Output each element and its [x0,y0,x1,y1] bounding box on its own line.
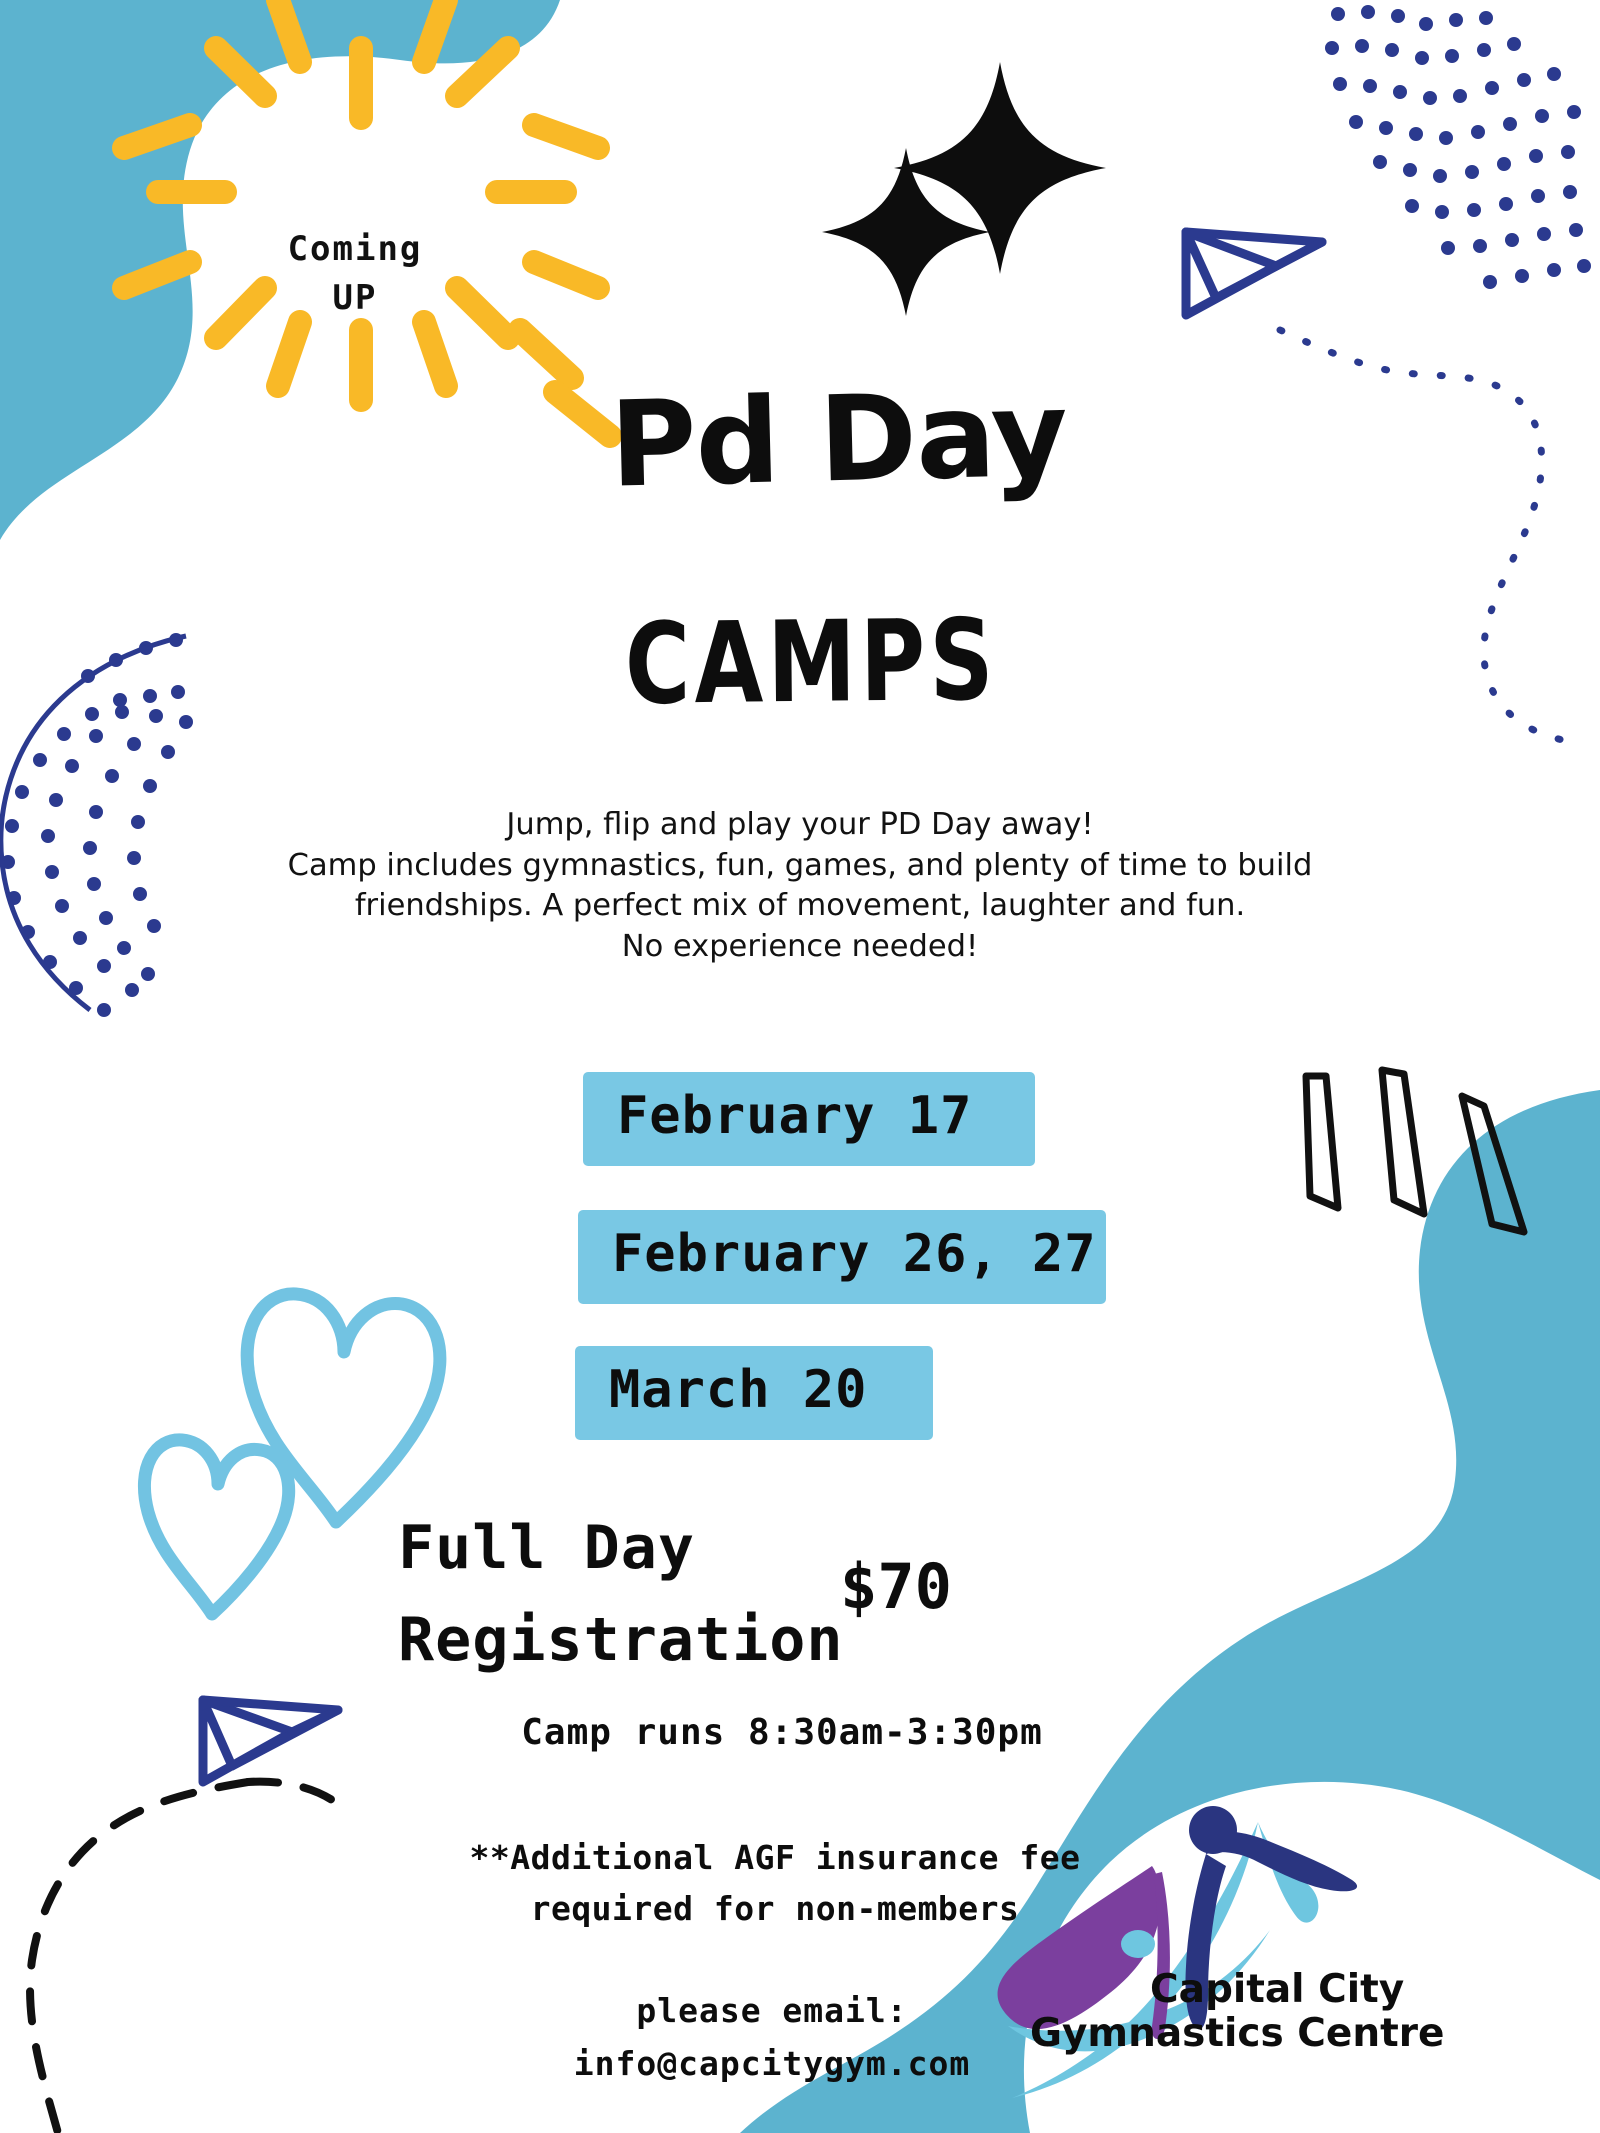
brand-name-line-1: Capital City [1150,1968,1600,2012]
camp-date-label: March 20 [575,1346,933,1440]
page-title-secondary: CAMPS [624,596,998,730]
coming-up-kicker: Coming UP [225,225,485,324]
camp-hours: Camp runs 8:30am-3:30pm [0,1712,1582,1753]
brand-logo: Capital City Gymnastics Centre [1010,1790,1600,2120]
registration-line-2: Registration [398,1605,843,1675]
camp-date-item: March 20 [575,1346,933,1440]
camp-date-label: February 17 [583,1072,1035,1166]
brand-logo-text: Capital City Gymnastics Centre [1150,1968,1600,2055]
intro-line-3: friendships. A perfect mix of movement, … [80,886,1520,927]
price-amount: $70 [840,1550,952,1623]
camp-date-item: February 26, 27 [578,1210,1106,1304]
poster-root: Coming UP Pd Day CAMPS Jump, flip and pl… [0,0,1600,2133]
brand-name-line-2: Gymnastics Centre [1030,2012,1600,2056]
kicker-line-2: UP [225,274,485,323]
intro-line-1: Jump, flip and play your PD Day away! [80,805,1520,846]
intro-line-4: No experience needed! [80,927,1520,968]
content-layer: Coming UP Pd Day CAMPS Jump, flip and pl… [0,0,1600,2133]
intro-line-2: Camp includes gymnastics, fun, games, an… [80,846,1520,887]
camp-date-item: February 17 [583,1072,1035,1166]
registration-line-1: Full Day [398,1513,695,1583]
camp-date-label: February 26, 27 [578,1210,1106,1304]
kicker-line-1: Coming [225,225,485,274]
page-title-primary: Pd Day [608,364,1068,513]
intro-paragraph: Jump, flip and play your PD Day away! Ca… [80,805,1520,967]
